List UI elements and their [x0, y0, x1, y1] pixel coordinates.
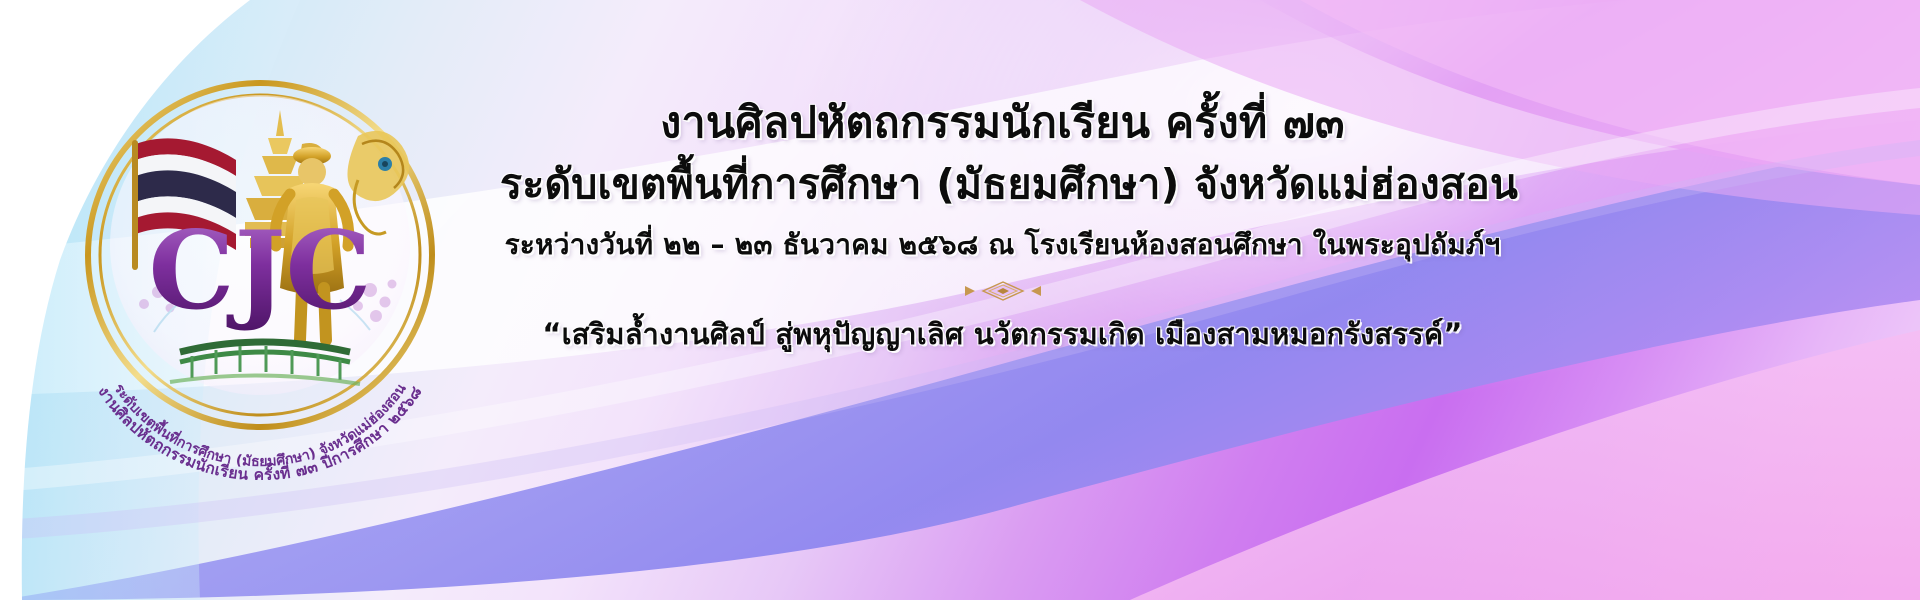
banner-title-line-2: ระดับเขตพื้นที่การศึกษา (มัธยมศึกษา) จัง… — [500, 158, 1505, 211]
monogram-text: CJC — [148, 208, 371, 334]
event-banner: CJC งานศิลปหัตถกรรมนักเรียน ครั้งที่ ๗๓ … — [0, 0, 1920, 600]
event-emblem: CJC งานศิลปหัตถกรรมนักเรียน ครั้งที่ ๗๓ … — [40, 40, 480, 480]
banner-date-line: ระหว่างวันที่ ๒๒ – ๒๓ ธันวาคม ๒๕๖๘ ณ โรง… — [500, 227, 1505, 263]
banner-text-block: งานศิลปหัตถกรรมนักเรียน ครั้งที่ ๗๓ ระดั… — [500, 96, 1505, 353]
banner-slogan-line: “เสริมล้ำงานศิลป์ สู่พหุปัญญาเลิศ นวัตกร… — [500, 316, 1505, 354]
cjc-monogram: CJC — [148, 208, 371, 334]
emblem-svg: CJC งานศิลปหัตถกรรมนักเรียน ครั้งที่ ๗๓ … — [40, 40, 480, 480]
banner-title-line-1: งานศิลปหัตถกรรมนักเรียน ครั้งที่ ๗๓ — [500, 96, 1505, 152]
ornamental-divider — [713, 280, 1293, 302]
